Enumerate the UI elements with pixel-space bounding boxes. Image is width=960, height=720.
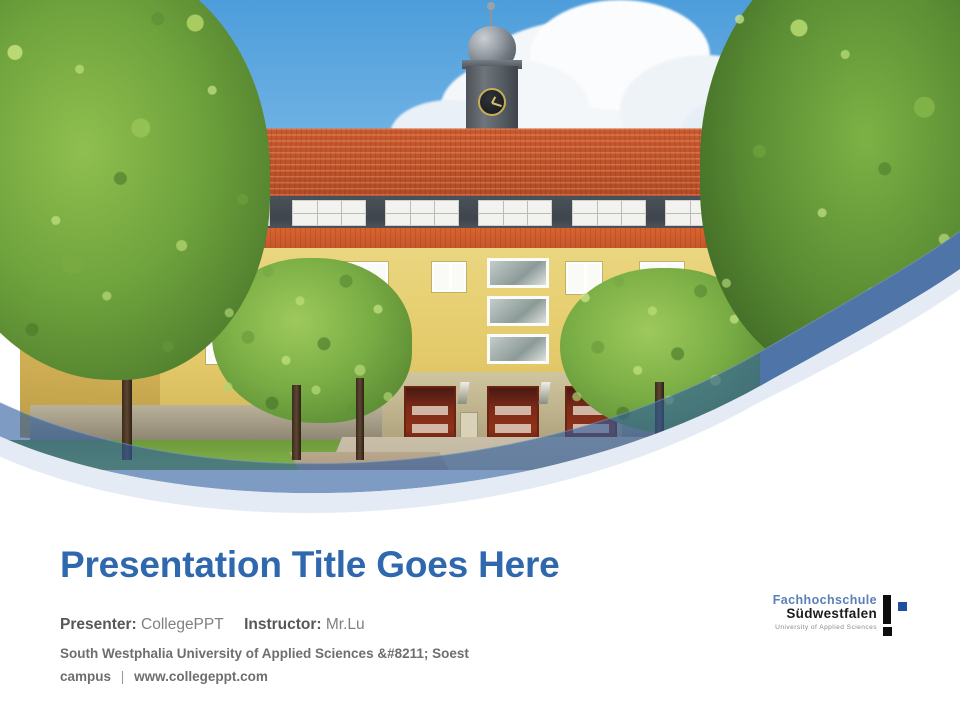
university-logo: Fachhochschule Südwestfalen University o…	[757, 594, 907, 636]
stairwell-window	[487, 258, 549, 288]
presenter-meta-line: Presenter: CollegePPT Instructor: Mr.Lu	[60, 616, 680, 634]
affiliation-line-2: campus	[60, 669, 111, 684]
website-link[interactable]: www.collegeppt.com	[134, 669, 268, 684]
presenter-label: Presenter:	[60, 616, 137, 633]
logo-line-suedwestfalen: Südwestfalen	[757, 607, 877, 621]
tree-canopy-right	[700, 0, 960, 380]
logo-bar-mark	[883, 595, 891, 624]
attic-window	[292, 200, 366, 226]
affiliation-block: South Westphalia University of Applied S…	[60, 643, 500, 689]
attic-window	[478, 200, 552, 226]
clock-minute-hand	[492, 102, 502, 107]
attic-window	[385, 200, 459, 226]
page-title: Presentation Title Goes Here	[60, 545, 680, 586]
tree-trunk	[655, 382, 664, 460]
attic-window	[572, 200, 646, 226]
walking-path	[289, 452, 460, 470]
campus-photo-scene	[0, 0, 960, 470]
tree-trunk	[356, 378, 364, 460]
presenter-value: CollegePPT	[141, 616, 223, 633]
facade-window	[432, 262, 466, 292]
tree-trunk	[122, 370, 132, 460]
entrance-signboard	[460, 412, 478, 438]
tree-trunk	[292, 385, 301, 460]
logo-blue-square-mark	[898, 602, 907, 611]
stairwell-window	[487, 334, 549, 364]
slide-text-block: Presentation Title Goes Here Presenter: …	[60, 545, 680, 689]
stairwell-window	[487, 296, 549, 326]
instructor-value: Mr.Lu	[326, 616, 365, 633]
affiliation-separator: |	[115, 669, 131, 684]
tower-spire	[490, 6, 492, 28]
instructor-label: Instructor:	[244, 616, 322, 633]
presentation-slide: Presentation Title Goes Here Presenter: …	[0, 0, 960, 720]
logo-line-tagline: University of Applied Sciences	[757, 624, 877, 631]
header-photo	[0, 0, 960, 470]
logo-black-square-mark	[883, 627, 892, 636]
logo-wordmark: Fachhochschule Südwestfalen University o…	[757, 594, 877, 631]
affiliation-line-1: South Westphalia University of Applied S…	[60, 646, 469, 661]
clock-face-icon	[478, 88, 506, 116]
tree-canopy-left	[0, 0, 270, 380]
